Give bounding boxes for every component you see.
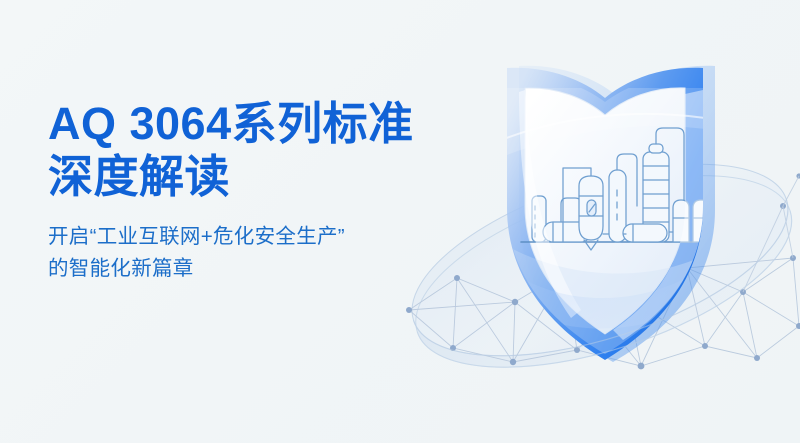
poster-root: AQ 3064系列标准 深度解读 开启“工业互联网+危化安全生产” 的智能化新篇… bbox=[0, 0, 800, 443]
headline-block: AQ 3064系列标准 深度解读 开启“工业互联网+危化安全生产” 的智能化新篇… bbox=[48, 100, 468, 285]
page-title-line-1: AQ 3064系列标准 bbox=[48, 100, 468, 149]
page-title-line-2: 深度解读 bbox=[48, 153, 468, 202]
subtitle-block: 开启“工业互联网+危化安全生产” 的智能化新篇章 bbox=[48, 221, 468, 285]
subtitle-line-2: 的智能化新篇章 bbox=[48, 253, 468, 285]
subtitle-line-1: 开启“工业互联网+危化安全生产” bbox=[48, 221, 468, 253]
